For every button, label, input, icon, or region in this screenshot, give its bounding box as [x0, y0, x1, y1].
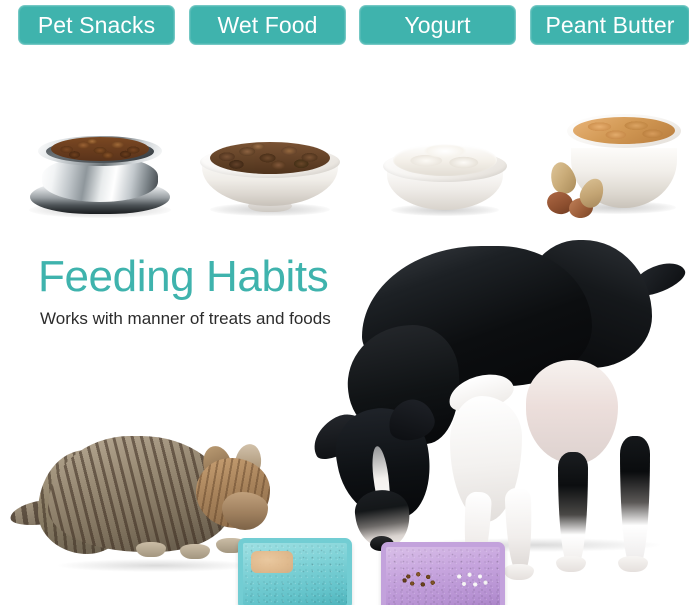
food-label-row: Pet Snacks Wet Food Yogurt Peant Butter	[0, 0, 689, 52]
wet-food-bowl-photo	[192, 120, 347, 220]
lick-mat-purple[interactable]	[381, 542, 505, 605]
food-label-badge-wet-food[interactable]: Wet Food	[189, 5, 346, 45]
cat-paw	[136, 542, 166, 557]
product-feature-page: Pet Snacks Wet Food Yogurt Peant Butter	[0, 0, 689, 605]
food-label-text: Pet Snacks	[38, 14, 155, 37]
dog-back-leg-left	[558, 452, 588, 564]
cat-face	[222, 492, 268, 530]
lick-mat-blue[interactable]	[238, 538, 352, 605]
dog-belly	[526, 360, 618, 464]
dry-kibble-pile	[51, 137, 149, 161]
food-label-badge-pet-snacks[interactable]: Pet Snacks	[18, 5, 175, 45]
kibble-bowl-photo	[24, 120, 176, 220]
dog-back-leg-right	[620, 436, 650, 564]
cream-dollop-topping	[452, 569, 492, 591]
food-label-badge-yogurt[interactable]: Yogurt	[359, 5, 516, 45]
dog-paw	[618, 556, 648, 572]
kibble-topping	[400, 569, 438, 591]
food-label-text: Wet Food	[217, 14, 317, 37]
peanut-butter-bowl-photo	[545, 92, 689, 220]
food-label-text: Peant Butter	[545, 14, 674, 37]
dog-paw	[556, 556, 586, 572]
food-label-badge-peanut-butter[interactable]: Peant Butter	[530, 5, 689, 45]
yogurt-bowl-photo	[375, 130, 515, 220]
wet-food-chunks	[210, 142, 330, 174]
cat-shadow	[58, 559, 254, 572]
dog-paw	[504, 564, 534, 580]
lifestyle-scene	[0, 220, 689, 605]
border-collie-dog	[330, 240, 689, 570]
yogurt-swirl	[393, 144, 497, 176]
dog-front-leg-right	[505, 488, 534, 571]
peanut-butter-spread	[573, 117, 675, 144]
yogurt-smear-topping	[251, 551, 293, 573]
mat-panel	[299, 547, 347, 577]
cat-paw	[180, 544, 210, 559]
food-photo-strip	[0, 52, 689, 220]
mat-panel	[247, 581, 347, 605]
food-label-text: Yogurt	[404, 14, 470, 37]
